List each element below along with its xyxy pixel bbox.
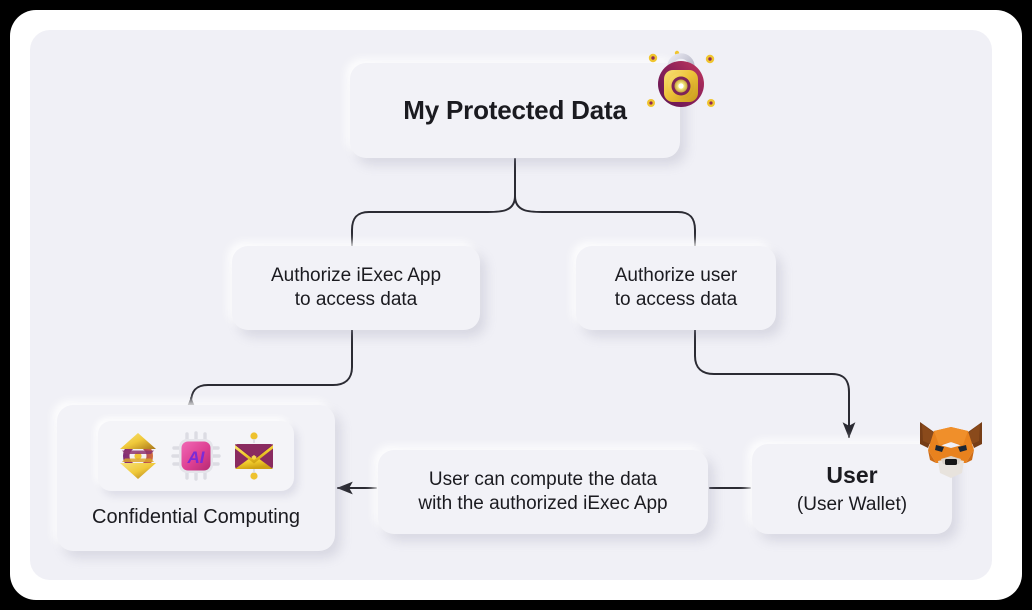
node-confidential-computing[interactable]: AI (57, 405, 335, 551)
node-authorize-iexec-app[interactable]: Authorize iExec App to access data (232, 246, 480, 330)
secure-data-icon (112, 430, 164, 482)
node-line-1: Authorize iExec App (271, 264, 441, 288)
node-line-1: User can compute the data (429, 468, 657, 492)
node-line-1: Authorize user (615, 264, 738, 288)
node-label: Confidential Computing (92, 505, 300, 531)
node-title: My Protected Data (403, 94, 626, 127)
confidential-icon-tray: AI (98, 421, 294, 491)
node-line-2: to access data (615, 288, 738, 312)
svg-text:AI: AI (187, 448, 206, 467)
node-line-2: with the authorized iExec App (418, 492, 667, 516)
envelope-icon (228, 430, 280, 482)
screenshot-root: My Protected Data (0, 0, 1032, 610)
node-my-protected-data[interactable]: My Protected Data (350, 63, 680, 158)
node-user-can-compute[interactable]: User can compute the data with the autho… (378, 450, 708, 534)
node-line-2: to access data (295, 288, 418, 312)
ai-chip-icon: AI (170, 430, 222, 482)
node-user[interactable]: User (User Wallet) (752, 444, 952, 534)
node-subtitle: (User Wallet) (797, 493, 907, 517)
node-title: User (826, 461, 877, 490)
node-authorize-user[interactable]: Authorize user to access data (576, 246, 776, 330)
